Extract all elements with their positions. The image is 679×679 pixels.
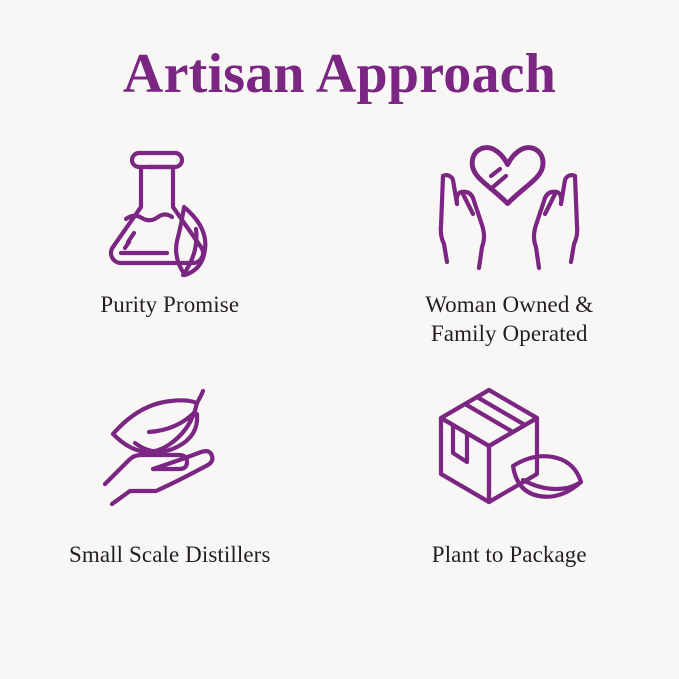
feature-item-small-scale-distillers: Small Scale Distillers bbox=[0, 382, 340, 624]
feature-item-purity-promise: Purity Promise bbox=[0, 140, 340, 382]
feature-label: Plant to Package bbox=[432, 540, 587, 569]
feature-item-plant-to-package: Plant to Package bbox=[340, 382, 679, 624]
artisan-approach-panel: Artisan Approach bbox=[0, 0, 679, 679]
feature-label: Purity Promise bbox=[100, 290, 239, 319]
flask-leaf-icon bbox=[85, 140, 255, 272]
hand-leaf-icon bbox=[85, 382, 255, 514]
box-leaf-icon bbox=[424, 382, 594, 514]
feature-item-woman-owned: Woman Owned & Family Operated bbox=[340, 140, 679, 382]
page-title: Artisan Approach bbox=[123, 44, 556, 106]
hands-heart-icon bbox=[424, 140, 594, 272]
feature-grid: Purity Promise bbox=[0, 140, 679, 624]
feature-label: Small Scale Distillers bbox=[69, 540, 271, 569]
feature-label: Woman Owned & Family Operated bbox=[425, 290, 593, 349]
